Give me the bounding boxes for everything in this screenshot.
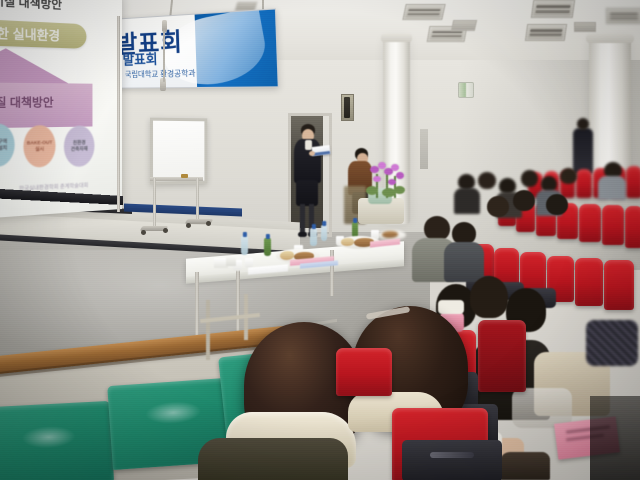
wall-sign <box>458 82 474 98</box>
standing-attendee <box>573 128 593 174</box>
audience-head <box>546 194 568 215</box>
red-auditorium-seats <box>575 258 603 306</box>
napkin-box <box>226 256 236 266</box>
slide-oval-4: 친환경건축자재 <box>64 125 95 167</box>
foreground-shadow <box>590 396 640 480</box>
wall-recess <box>420 129 428 169</box>
audience-torso <box>444 242 484 282</box>
slide-pill: 쾌적한 실내환경 <box>0 17 86 49</box>
red-auditorium-seats <box>478 320 526 392</box>
audience-head <box>521 170 538 187</box>
standing-attendee-head <box>577 118 589 130</box>
water-bottle <box>241 236 248 255</box>
wall-banner: 발표회 발표회 국립대학교 환경공학과 <box>110 8 279 88</box>
projection-screen-pole <box>117 16 120 212</box>
white-item <box>438 300 464 314</box>
whiteboard <box>150 118 207 185</box>
seat-hinge <box>430 452 474 458</box>
whiteboard-leg <box>196 178 199 222</box>
water-bottle <box>310 228 317 246</box>
banner-pole <box>163 30 165 82</box>
column-capital <box>381 34 412 42</box>
ceiling-light <box>402 4 445 20</box>
ceiling-light <box>606 8 640 24</box>
slide-house-label: 실내공기질 대책방안 <box>0 93 54 111</box>
whiteboard-caster <box>186 223 191 228</box>
red-auditorium-seats <box>576 169 592 198</box>
table-leg <box>206 300 210 360</box>
audience-coat <box>198 438 348 480</box>
water-bottle <box>321 225 327 241</box>
ceiling-vent <box>451 20 477 31</box>
audience-hair <box>470 276 508 318</box>
whiteboard-caster <box>141 230 146 235</box>
whiteboard-caster <box>206 221 211 226</box>
slide-oval-2: 흡연구역추가설치 <box>0 123 15 167</box>
slide-oval-3: BAKE-OUT실시 <box>23 125 55 168</box>
slide-roof-shape <box>0 46 72 85</box>
green-vinyl-bench <box>0 401 114 480</box>
slide-top-title: 실내공기질 대책방안 <box>0 0 62 13</box>
red-auditorium-seats <box>336 348 392 396</box>
slide: 실내공기질 대책방안 쾌적한 실내환경 실내공기질 대책방안 환기설비설치 흡연… <box>0 0 122 218</box>
projection-screen-surface: 실내공기질 대책방안 쾌적한 실내환경 실내공기질 대책방안 환기설비설치 흡연… <box>0 0 122 218</box>
audience-head <box>487 196 509 217</box>
audience-torso <box>454 188 480 214</box>
presenter-skirt <box>296 180 318 206</box>
presenter-leg <box>300 204 305 234</box>
photograph: 발표회 발표회 국립대학교 환경공학과 실내공기질 대책방안 쾌적한 실내환경 … <box>0 0 640 480</box>
presenter-hand <box>309 151 315 156</box>
red-auditorium-seats <box>626 166 640 198</box>
whiteboard-leg <box>153 178 156 228</box>
seat-back-panel <box>402 440 502 480</box>
whiteboard-marker <box>181 174 188 178</box>
audience-head <box>560 168 577 184</box>
table-leg <box>236 264 240 338</box>
ceiling-light <box>531 0 576 18</box>
beverage-bottle <box>264 238 271 256</box>
banner-subtitle: 발표회 <box>122 49 157 69</box>
ceiling-vent <box>574 22 596 32</box>
presenter-shoe <box>298 232 307 237</box>
wall-speaker <box>341 94 354 121</box>
column-capital <box>586 34 634 43</box>
audience-head <box>478 172 496 189</box>
orchid-arrangement <box>360 160 408 200</box>
audience-sleeve <box>500 452 550 480</box>
red-auditorium-seats <box>579 204 601 242</box>
red-auditorium-seats <box>602 205 624 245</box>
slide-pill-label: 쾌적한 실내환경 <box>0 21 86 45</box>
audience-torso <box>598 176 626 200</box>
patterned-bag <box>586 320 638 366</box>
red-auditorium-seats <box>625 206 640 248</box>
audience-head <box>513 190 535 211</box>
red-auditorium-seats <box>604 260 634 310</box>
whiteboard-caster <box>163 228 168 233</box>
ceiling-light <box>525 24 567 41</box>
